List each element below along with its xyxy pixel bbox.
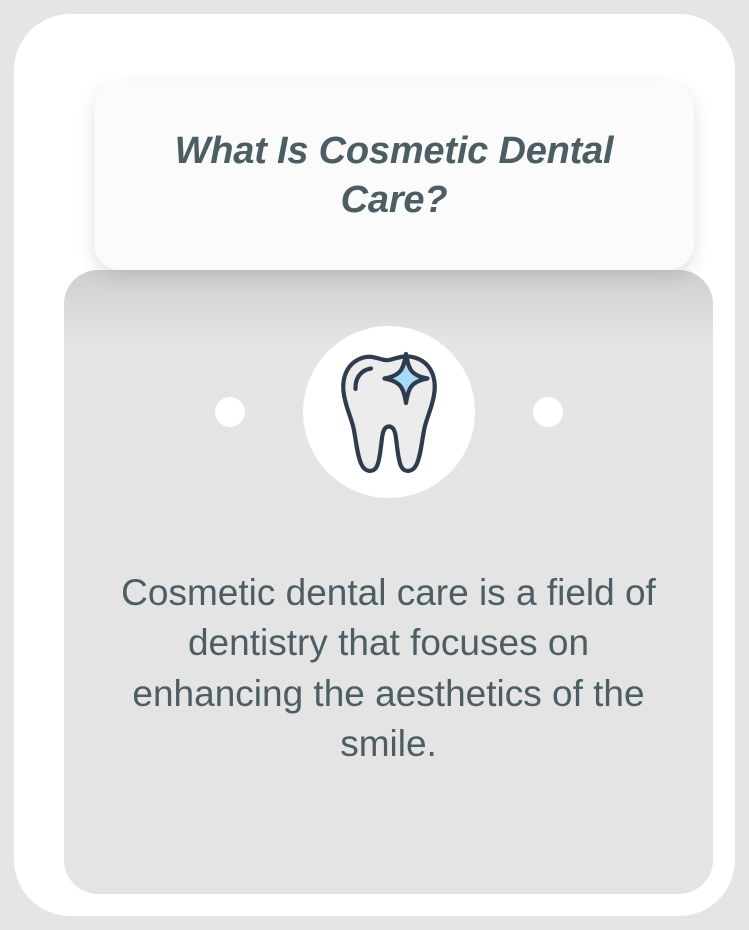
left-decor-dot-icon xyxy=(215,397,245,427)
outer-frame: Cosmetic dental care is a field of denti… xyxy=(14,14,735,916)
card-title: What Is Cosmetic Dental Care? xyxy=(94,127,694,224)
sparkling-tooth-icon xyxy=(334,345,444,480)
title-card: What Is Cosmetic Dental Care? xyxy=(94,82,694,270)
right-decor-dot-icon xyxy=(533,397,563,427)
icon-row xyxy=(64,322,713,502)
icon-badge xyxy=(303,326,475,498)
content-card: Cosmetic dental care is a field of denti… xyxy=(64,270,713,894)
card-body-text: Cosmetic dental care is a field of denti… xyxy=(114,568,663,769)
